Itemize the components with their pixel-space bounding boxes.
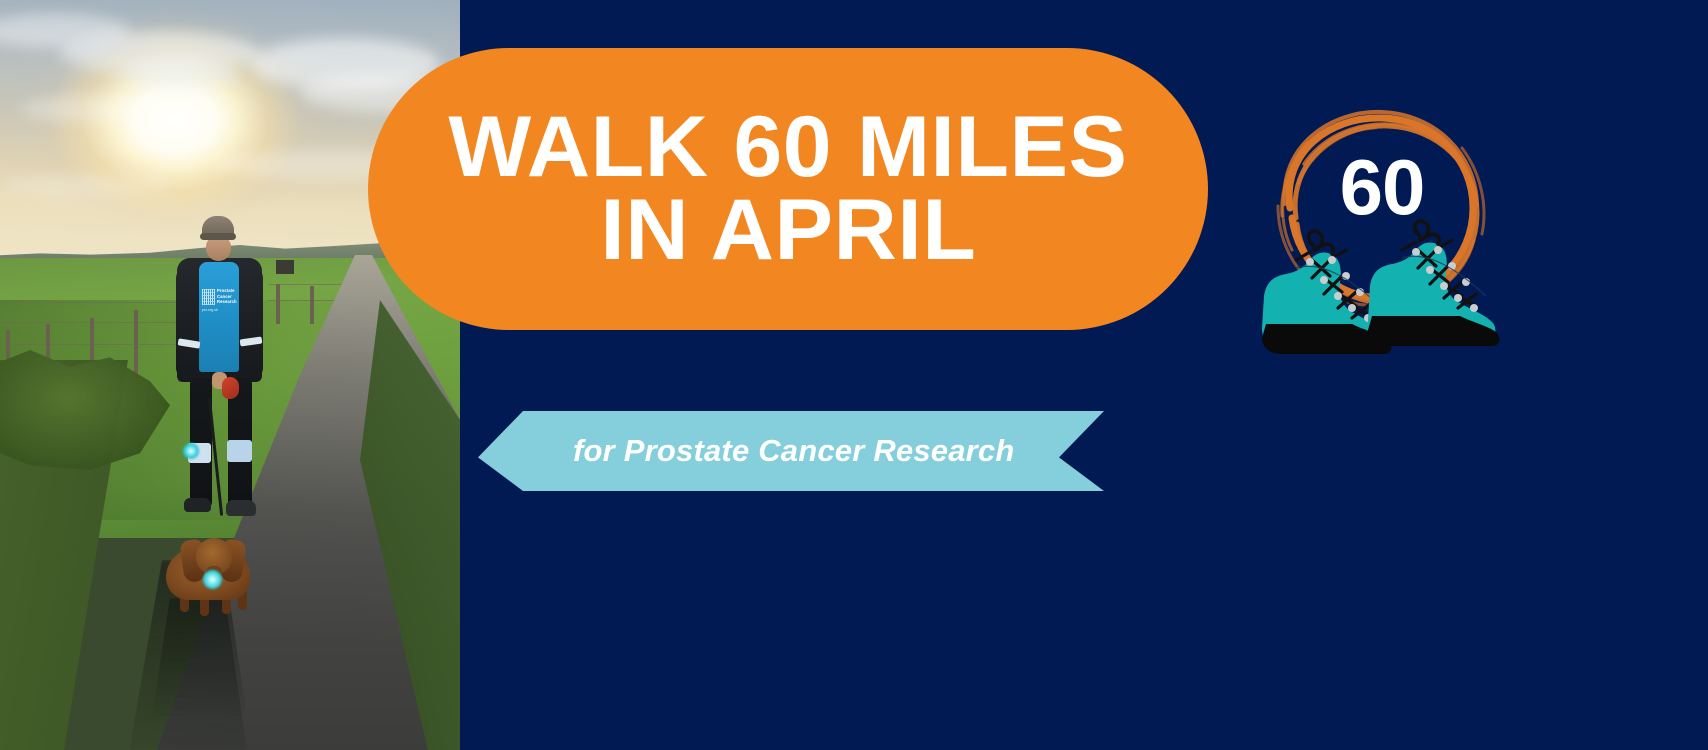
sixty-boots-logo: 60	[1252, 100, 1512, 365]
photo-person-sock-right	[227, 440, 252, 462]
logo-number: 60	[1252, 148, 1512, 226]
photo-leash-handle	[222, 377, 239, 399]
photo-tshirt-logo-mark	[202, 289, 215, 305]
photo-tshirt-logo-text: Prostate Cancer Research	[217, 288, 237, 305]
photo-cloud	[0, 175, 170, 197]
hiking-boot-right-icon	[1368, 221, 1499, 346]
headline-pill: WALK 60 MILES IN APRIL	[368, 48, 1208, 330]
photo-cloud	[20, 96, 150, 122]
photo-gate	[276, 260, 294, 274]
photo-person-hat-brim	[200, 233, 236, 240]
photo-person-shoe-left	[184, 498, 211, 512]
tshirt-brand-line-1: Prostate	[217, 288, 237, 294]
campaign-banner: Prostate Cancer Research pcr.org.uk	[0, 0, 1708, 750]
subtitle-chevron-banner: for Prostate Cancer Research	[478, 411, 1104, 491]
tshirt-url: pcr.org.uk	[202, 308, 218, 313]
photo-person-tshirt	[199, 262, 239, 372]
headline-line-1: WALK 60 MILES	[448, 106, 1127, 189]
headline-line-2: IN APRIL	[600, 189, 976, 272]
tshirt-brand-line-3: Research	[217, 299, 237, 305]
photo-cloud	[120, 60, 240, 90]
logo-artwork	[1252, 100, 1512, 365]
photo-reflective-light	[183, 443, 199, 459]
photo-tshirt-logo: Prostate Cancer Research pcr.org.uk	[202, 288, 236, 314]
photo-person-shoe-right	[226, 500, 256, 516]
subtitle-text: for Prostate Cancer Research	[573, 433, 1015, 469]
photo-dog-collar-light	[203, 570, 222, 589]
